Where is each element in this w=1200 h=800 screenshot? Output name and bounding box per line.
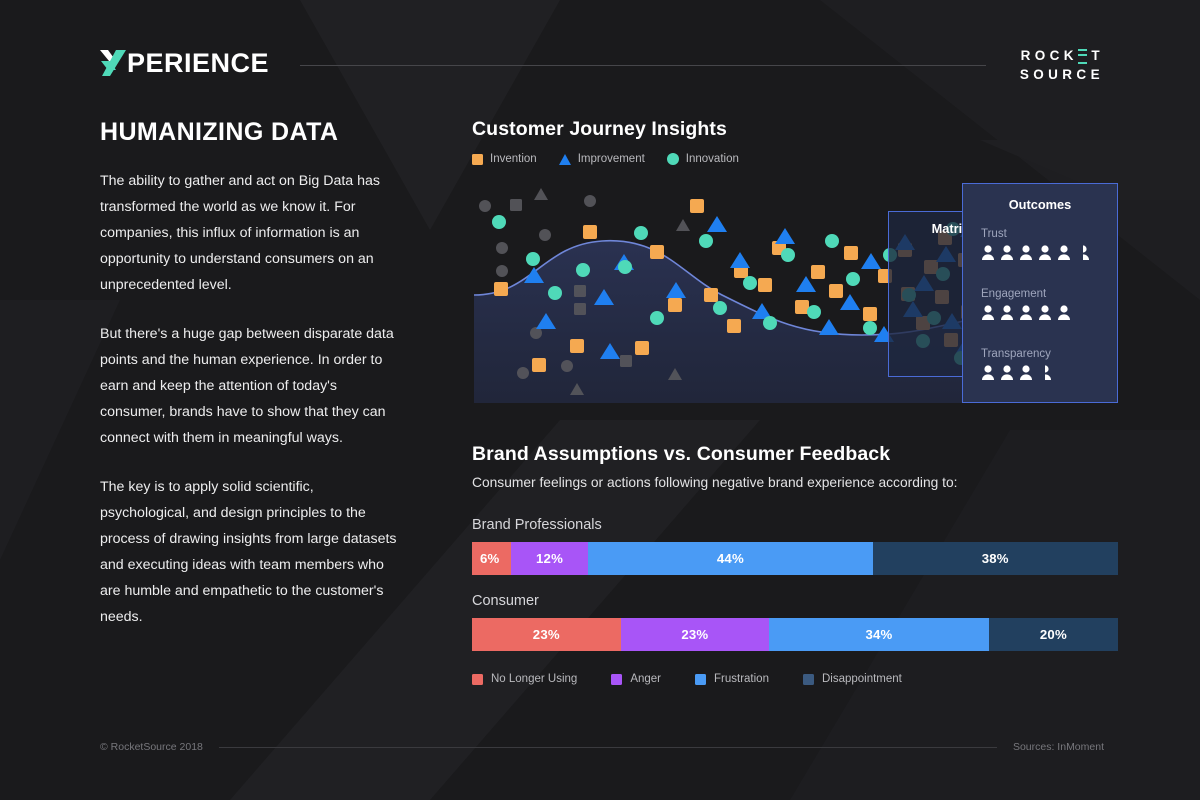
bar-row-brand-professionals: Brand Professionals 6% 12% 44% 38%	[472, 517, 1118, 575]
bar-legend-item-no-longer-using[interactable]: No Longer Using	[472, 673, 577, 685]
bar-legend-label-disappointment: Disappointment	[822, 673, 902, 685]
footer-divider	[219, 747, 997, 748]
bar-segment-no-longer-using[interactable]: 6%	[472, 542, 511, 575]
swatch-icon	[472, 674, 483, 685]
brand-feedback-section: Brand Assumptions vs. Consumer Feedback …	[472, 443, 1118, 685]
journey-section-title: Customer Journey Insights	[472, 118, 1118, 141]
body-paragraph-2: But there's a huge gap between disparate…	[100, 321, 400, 451]
body-paragraph-1: The ability to gather and act on Big Dat…	[100, 168, 400, 298]
outcome-group-engagement: Engagement	[981, 288, 1099, 321]
bar-segment-no-longer-using[interactable]: 23%	[472, 618, 621, 651]
bar-caption-brand-professionals: Brand Professionals	[472, 517, 1118, 533]
journey-scatter-chart: Matrix Outcomes Trust	[472, 183, 1118, 403]
swatch-icon	[611, 674, 622, 685]
bar-caption-consumer: Consumer	[472, 593, 1118, 609]
bar-segment-frustration[interactable]: 44%	[588, 542, 872, 575]
rocketsource-accent-e: E	[1078, 46, 1091, 65]
outcomes-panel[interactable]: Outcomes Trust	[962, 183, 1118, 403]
legend-item-invention[interactable]: Invention	[472, 153, 537, 165]
outcome-people-engagement	[981, 305, 1099, 321]
swatch-icon	[803, 674, 814, 685]
footer: © RocketSource 2018 Sources: InMoment	[100, 741, 1104, 753]
stacked-bar-brand-professionals: 6% 12% 44% 38%	[472, 542, 1118, 575]
bar-row-consumer: Consumer 23% 23% 34% 20%	[472, 593, 1118, 651]
bar-legend-label-anger: Anger	[630, 673, 661, 685]
outcome-group-transparency: Transparency	[981, 348, 1099, 381]
brandbars-legend: No Longer Using Anger Frustration Disapp…	[472, 673, 1118, 685]
x-logo-mark	[100, 48, 126, 78]
page-title: HUMANIZING DATA	[100, 118, 400, 147]
right-charts-column: Customer Journey Insights Invention Impr…	[472, 118, 1118, 685]
outcome-people-transparency	[981, 365, 1099, 381]
rocketsource-logo: ROCKET SOURCE	[1020, 46, 1104, 84]
legend-label-improvement: Improvement	[578, 153, 645, 165]
bar-legend-item-frustration[interactable]: Frustration	[695, 673, 769, 685]
triangle-marker-icon	[559, 154, 571, 165]
footer-sources: Sources: InMoment	[1013, 741, 1104, 753]
bar-legend-label-no-longer-using: No Longer Using	[491, 673, 577, 685]
circle-marker-icon	[667, 153, 679, 165]
bar-segment-disappointment[interactable]: 38%	[873, 542, 1118, 575]
rocketsource-line-1: ROCKET	[1020, 46, 1104, 65]
outcome-label-trust: Trust	[981, 228, 1099, 240]
square-marker-icon	[472, 154, 483, 165]
bar-segment-anger[interactable]: 23%	[621, 618, 770, 651]
bar-segment-anger[interactable]: 12%	[511, 542, 589, 575]
stacked-bar-consumer: 23% 23% 34% 20%	[472, 618, 1118, 651]
swatch-icon	[695, 674, 706, 685]
outcome-group-trust: Trust	[981, 228, 1099, 261]
rocketsource-rock: ROCK	[1021, 48, 1078, 63]
outcome-label-engagement: Engagement	[981, 288, 1099, 300]
outcome-label-transparency: Transparency	[981, 348, 1099, 360]
footer-copyright: © RocketSource 2018	[100, 741, 203, 753]
rocketsource-line-2: SOURCE	[1020, 65, 1104, 84]
rocketsource-t: T	[1091, 48, 1104, 63]
journey-legend: Invention Improvement Innovation	[472, 153, 1118, 165]
brand-wordmark: PERIENCE	[127, 48, 269, 78]
header-divider	[300, 65, 986, 66]
bar-legend-item-anger[interactable]: Anger	[611, 673, 661, 685]
outcomes-panel-title: Outcomes	[963, 197, 1117, 212]
bar-segment-disappointment[interactable]: 20%	[989, 618, 1118, 651]
brandbars-subtitle: Consumer feelings or actions following n…	[472, 475, 1118, 490]
legend-item-innovation[interactable]: Innovation	[667, 153, 739, 165]
body-paragraph-3: The key is to apply solid scientific, ps…	[100, 474, 400, 630]
legend-label-innovation: Innovation	[686, 153, 739, 165]
bar-segment-frustration[interactable]: 34%	[769, 618, 989, 651]
outcome-people-trust	[981, 245, 1099, 261]
xperience-logo: PERIENCE	[100, 48, 269, 78]
brandbars-title: Brand Assumptions vs. Consumer Feedback	[472, 443, 1118, 466]
legend-item-improvement[interactable]: Improvement	[559, 153, 645, 165]
bar-legend-label-frustration: Frustration	[714, 673, 769, 685]
left-text-column: HUMANIZING DATA The ability to gather an…	[100, 118, 400, 630]
legend-label-invention: Invention	[490, 153, 537, 165]
bar-legend-item-disappointment[interactable]: Disappointment	[803, 673, 902, 685]
